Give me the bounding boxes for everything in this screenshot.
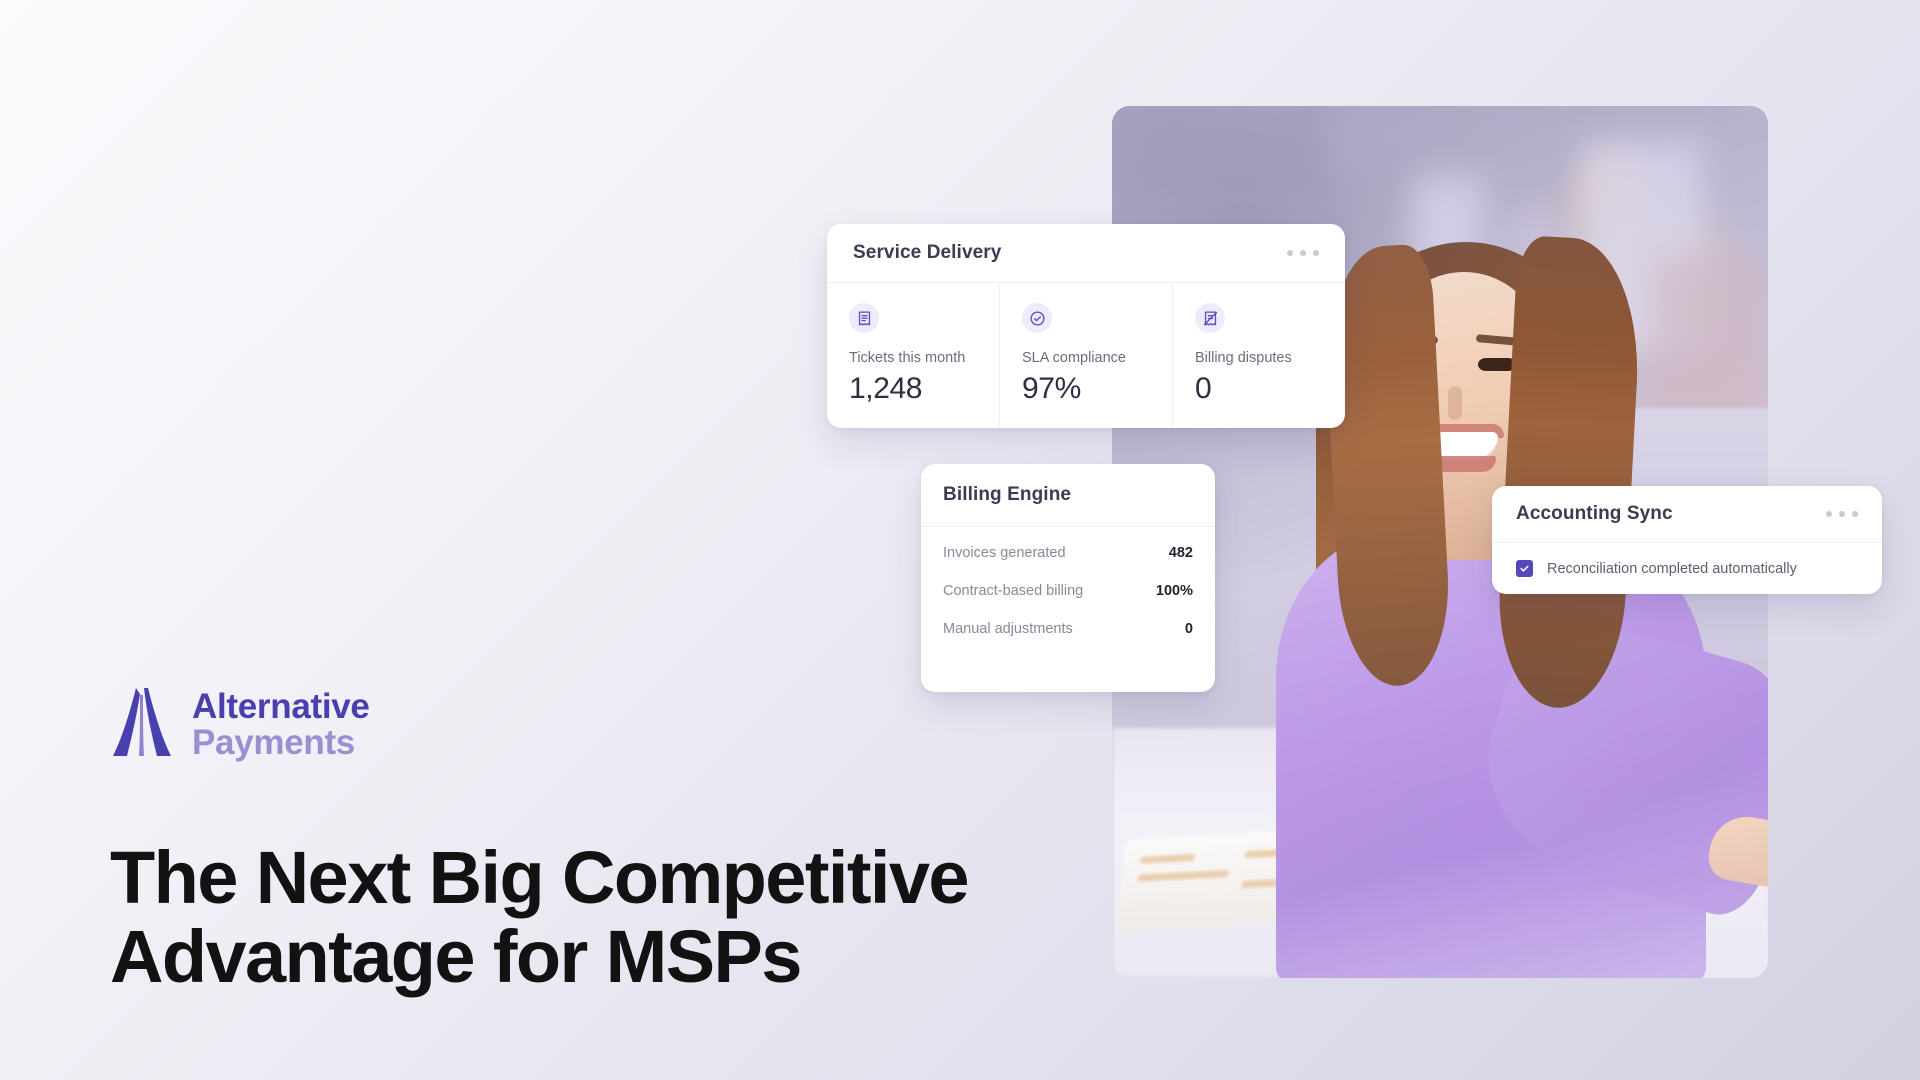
metric-billing-disputes: Billing disputes 0	[1173, 283, 1345, 428]
accounting-sync-card: Accounting Sync Reconciliation completed…	[1492, 486, 1882, 594]
receipt-icon	[849, 303, 879, 333]
metric-value: 1,248	[849, 372, 999, 406]
list-item: Invoices generated 482	[943, 545, 1193, 561]
card-header: Billing Engine	[921, 464, 1215, 527]
stat-value: 0	[1185, 621, 1193, 637]
blurred-ceiling-shape	[1132, 106, 1332, 196]
metric-label: SLA compliance	[1022, 350, 1172, 366]
card-header: Service Delivery	[827, 224, 1345, 283]
metric-value: 97%	[1022, 372, 1172, 406]
card-header: Accounting Sync	[1492, 486, 1882, 543]
card-title: Billing Engine	[943, 484, 1071, 506]
check-circle-icon	[1022, 303, 1052, 333]
reconciliation-checkbox[interactable]	[1516, 560, 1533, 577]
stat-label: Contract-based billing	[943, 583, 1083, 599]
service-delivery-card: Service Delivery Tickets this month 1,24…	[827, 224, 1345, 428]
hero-banner: Service Delivery Tickets this month 1,24…	[0, 0, 1920, 1080]
metric-value: 0	[1195, 372, 1345, 406]
stat-value: 100%	[1156, 583, 1193, 599]
stat-label: Manual adjustments	[943, 621, 1073, 637]
more-horizontal-icon[interactable]	[1287, 250, 1319, 256]
brand-logo[interactable]: Alternative Payments	[110, 686, 370, 763]
metric-sla-compliance: SLA compliance 97%	[1000, 283, 1173, 428]
brand-wordmark: Alternative Payments	[192, 689, 370, 760]
metric-row: Tickets this month 1,248 SLA compliance …	[827, 283, 1345, 428]
metric-label: Tickets this month	[849, 350, 999, 366]
alternative-payments-a-mark	[110, 686, 172, 763]
more-horizontal-icon[interactable]	[1826, 511, 1858, 517]
brand-name-line-2: Payments	[192, 725, 370, 761]
card-title: Accounting Sync	[1516, 503, 1673, 525]
blurred-ceiling-shape	[1322, 116, 1442, 176]
checklist-label: Reconciliation completed automatically	[1547, 561, 1797, 577]
brand-name-line-1: Alternative	[192, 689, 370, 725]
metric-label: Billing disputes	[1195, 350, 1345, 366]
metric-tickets-this-month: Tickets this month 1,248	[827, 283, 1000, 428]
stat-label: Invoices generated	[943, 545, 1066, 561]
nose	[1448, 386, 1462, 420]
receipt-slash-icon	[1195, 303, 1225, 333]
list-item: Manual adjustments 0	[943, 621, 1193, 637]
page-title: The Next Big Competitive Advantage for M…	[110, 838, 1070, 998]
checklist-item[interactable]: Reconciliation completed automatically	[1492, 543, 1882, 577]
eye	[1478, 358, 1516, 371]
card-title: Service Delivery	[853, 242, 1001, 264]
billing-engine-card: Billing Engine Invoices generated 482 Co…	[921, 464, 1215, 692]
stat-value: 482	[1169, 545, 1193, 561]
stat-list: Invoices generated 482 Contract-based bi…	[921, 527, 1215, 637]
list-item: Contract-based billing 100%	[943, 583, 1193, 599]
